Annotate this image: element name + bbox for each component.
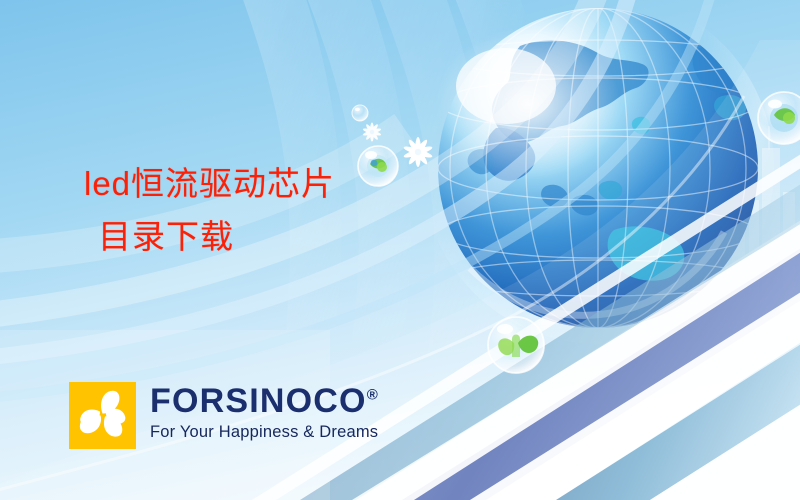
brand-name-text: FORSINOCO [150,382,367,420]
logo-wordmark: FORSINOCO® For Your Happiness & Dreams [150,384,378,442]
bubble-tiny-top [352,105,368,121]
banner-image: led恒流驱动芯片 目录下载 FORSINOCO® For Your Happi… [0,0,800,500]
registered-trademark-icon: ® [367,387,378,404]
brand-tagline: For Your Happiness & Dreams [150,423,378,442]
headline-line-2: 目录下载 [98,216,504,259]
pinwheel-flower-icon [69,382,136,449]
logo-mark-icon [69,382,136,449]
headline-line-1: led恒流驱动芯片 [84,163,504,206]
company-logo: FORSINOCO® For Your Happiness & Dreams [69,382,378,449]
bubble-leaf [488,317,544,373]
bubble-globe-right [758,92,800,144]
brand-name: FORSINOCO® [150,384,378,418]
headline-text: led恒流驱动芯片 目录下载 [84,163,504,259]
